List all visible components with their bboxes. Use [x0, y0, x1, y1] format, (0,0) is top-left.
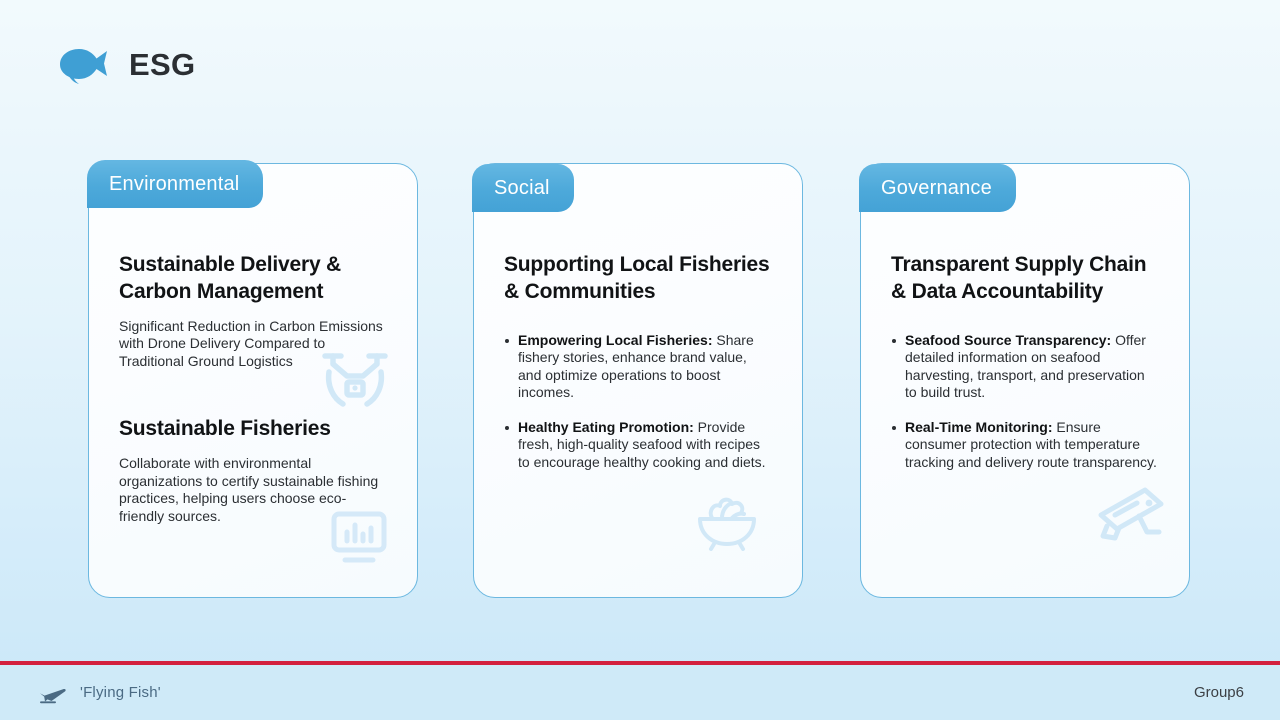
page-header: ESG	[55, 36, 195, 92]
card-body-social: Supporting Local Fisheries & Communities…	[474, 212, 802, 597]
section-spacer	[119, 370, 387, 416]
section-heading: Supporting Local Fisheries & Communities	[504, 252, 772, 306]
section-paragraph: Significant Reduction in Carbon Emission…	[119, 318, 387, 371]
section-heading: Sustainable Fisheries	[119, 416, 387, 443]
list-item: Empowering Local Fisheries: Share fisher…	[504, 332, 772, 402]
page-title: ESG	[129, 49, 195, 80]
bullet-label: Real-Time Monitoring:	[905, 419, 1053, 435]
bullet-list-social: Empowering Local Fisheries: Share fisher…	[504, 332, 772, 472]
card-environmental[interactable]: Environmental	[88, 163, 418, 598]
bullet-label: Healthy Eating Promotion:	[518, 419, 694, 435]
footer-group-label: Group6	[1194, 684, 1244, 701]
airplane-takeoff-icon	[38, 682, 68, 704]
footer-brand-group: 'Flying Fish'	[38, 682, 161, 704]
fish-icon	[55, 43, 109, 85]
esg-card-row: Environmental	[0, 163, 1280, 598]
page-footer: 'Flying Fish' Group6	[0, 665, 1280, 720]
card-tab-environmental[interactable]: Environmental	[87, 160, 263, 208]
section-heading: Sustainable Delivery & Carbon Management	[119, 252, 387, 306]
footer-brand-label: 'Flying Fish'	[80, 684, 161, 701]
card-governance[interactable]: Governance Transparent Supply Chain & Da…	[860, 163, 1190, 598]
list-item: Healthy Eating Promotion: Provide fresh,…	[504, 419, 772, 472]
card-tab-governance[interactable]: Governance	[859, 164, 1016, 212]
section-paragraph: Collaborate with environmental organizat…	[119, 455, 387, 525]
section-heading: Transparent Supply Chain & Data Accounta…	[891, 252, 1159, 306]
card-tab-social[interactable]: Social	[472, 164, 574, 212]
card-body-governance: Transparent Supply Chain & Data Accounta…	[861, 212, 1189, 597]
bullet-label: Empowering Local Fisheries:	[518, 332, 713, 348]
bullet-list-governance: Seafood Source Transparency: Offer detai…	[891, 332, 1159, 472]
card-body-environmental: Sustainable Delivery & Carbon Management…	[89, 212, 417, 597]
list-item: Real-Time Monitoring: Ensure consumer pr…	[891, 419, 1159, 472]
bullet-label: Seafood Source Transparency:	[905, 332, 1111, 348]
card-social[interactable]: Social Supporting Local Fisheries & Comm…	[473, 163, 803, 598]
list-item: Seafood Source Transparency: Offer detai…	[891, 332, 1159, 402]
